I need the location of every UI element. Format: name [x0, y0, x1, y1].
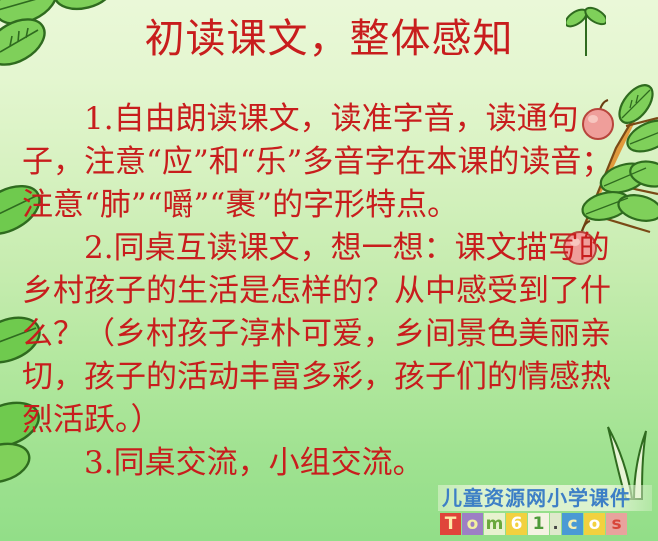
watermark-url-char: c — [562, 513, 583, 535]
watermark-url-char: m — [484, 513, 505, 535]
instruction-item-2: 2.同桌互读课文，想一想：课文描写的乡村孩子的生活是怎样的？从中感受到了什么？（… — [22, 227, 640, 442]
body-text-block: 1.自由朗读课文，读准字音，读通句子，注意“应”和“乐”多音字在本课的读音；注意… — [22, 98, 640, 485]
instruction-item-1: 1.自由朗读课文，读准字音，读通句子，注意“应”和“乐”多音字在本课的读音；注意… — [22, 98, 640, 227]
watermark-url-char: 1 — [528, 513, 549, 535]
watermark-url-char: T — [440, 513, 461, 535]
watermark-url-char: . — [550, 513, 561, 535]
title-area: 初读课文，整体感知 — [0, 12, 658, 66]
watermark-url-char: o — [584, 513, 605, 535]
watermark-chinese-text: 儿童资源网小学课件 — [442, 486, 631, 510]
watermark-url-tiles: Tom61.cos — [440, 512, 628, 536]
watermark-url-char: 6 — [506, 513, 527, 535]
watermark-url-char: o — [462, 513, 483, 535]
page-title: 初读课文，整体感知 — [145, 12, 514, 66]
slide-canvas: 初读课文，整体感知 1.自由朗读课文，读准字音，读通句子，注意“应”和“乐”多音… — [0, 0, 658, 541]
watermark-url-char: s — [606, 513, 627, 535]
instruction-item-3: 3.同桌交流，小组交流。 — [22, 442, 640, 485]
watermark: 儿童资源网小学课件 Tom61.cos — [438, 485, 652, 539]
